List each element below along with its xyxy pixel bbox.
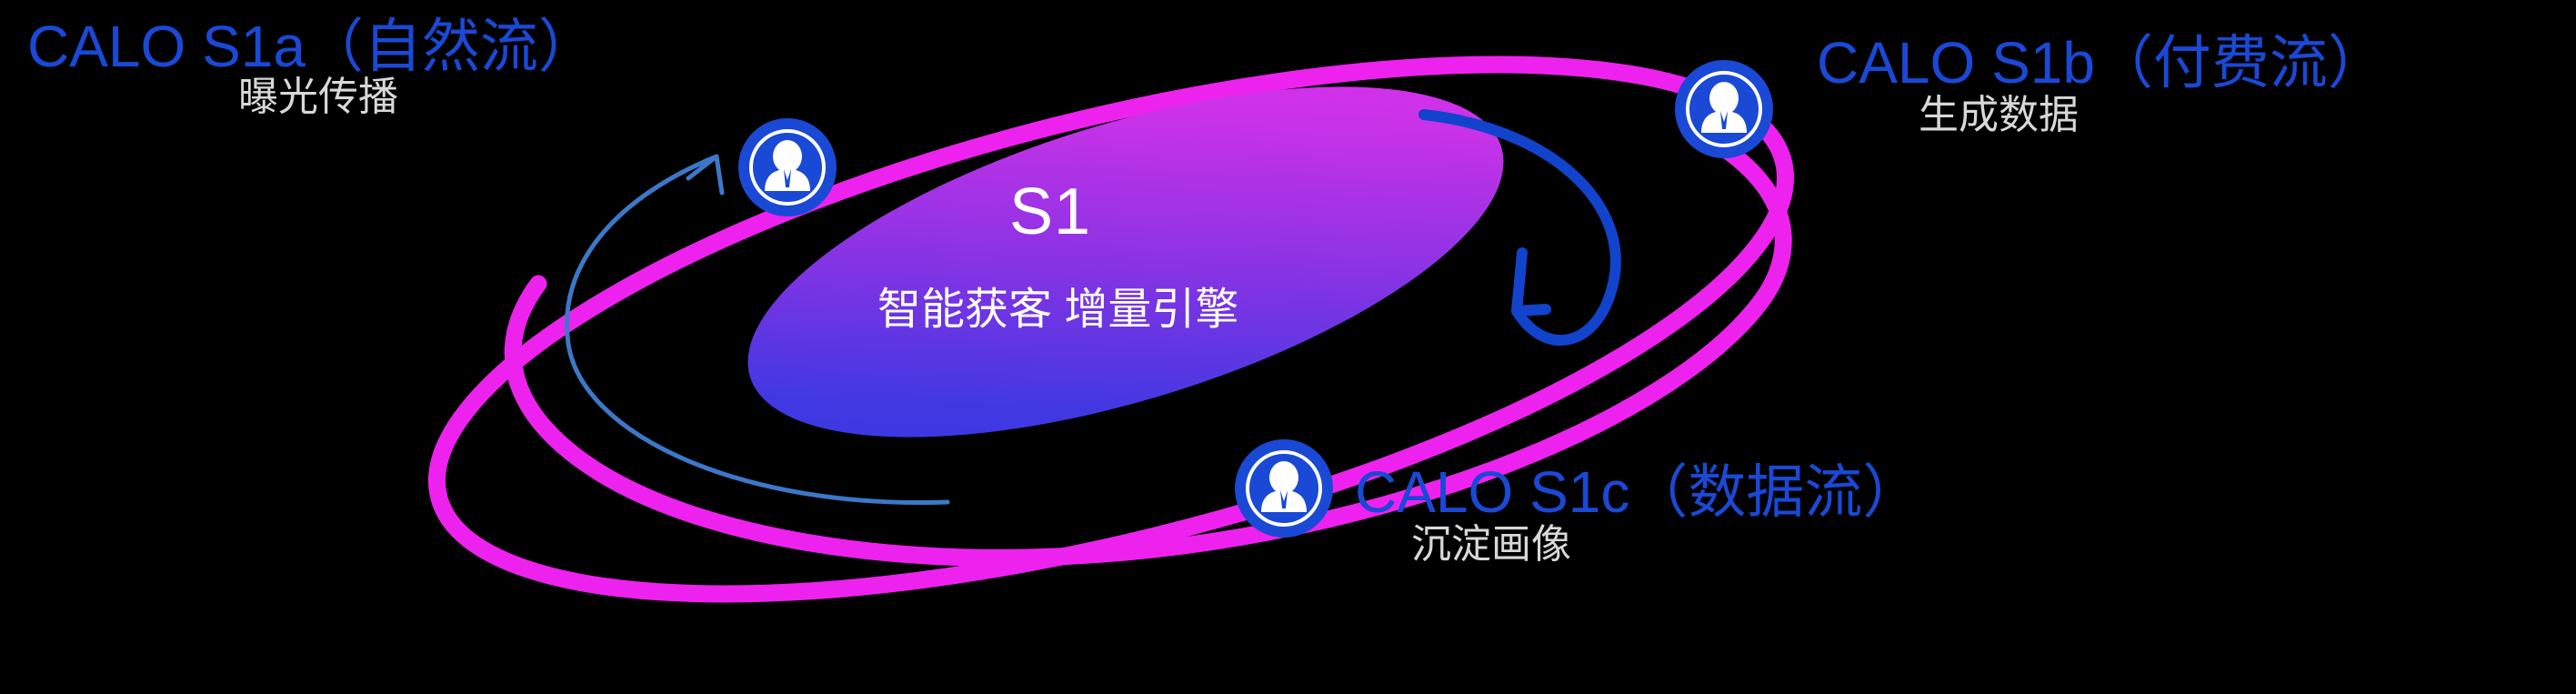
stream-subtitle-s1c: 沉淀画像 xyxy=(1411,524,1571,566)
core-ellipse xyxy=(709,15,1541,508)
stream-title-s1b: CALO S1b（付费流） xyxy=(1817,33,2386,94)
stream-subtitle-s1a: 曝光传播 xyxy=(238,76,398,118)
node-s1b[interactable] xyxy=(1675,60,1773,158)
stream-subtitle-s1b: 生成数据 xyxy=(1919,95,2079,136)
diagram-canvas: S1 智能获客 增量引擎 CALO S1a（自然流） 曝光传播 CALO S1b… xyxy=(0,0,2576,694)
stream-title-s1c: CALO S1c（数据流） xyxy=(1355,462,1920,523)
stream-title-s1a: CALO S1a（自然流） xyxy=(27,16,596,77)
node-s1c[interactable] xyxy=(1235,439,1333,538)
node-s1a[interactable] xyxy=(738,118,837,216)
